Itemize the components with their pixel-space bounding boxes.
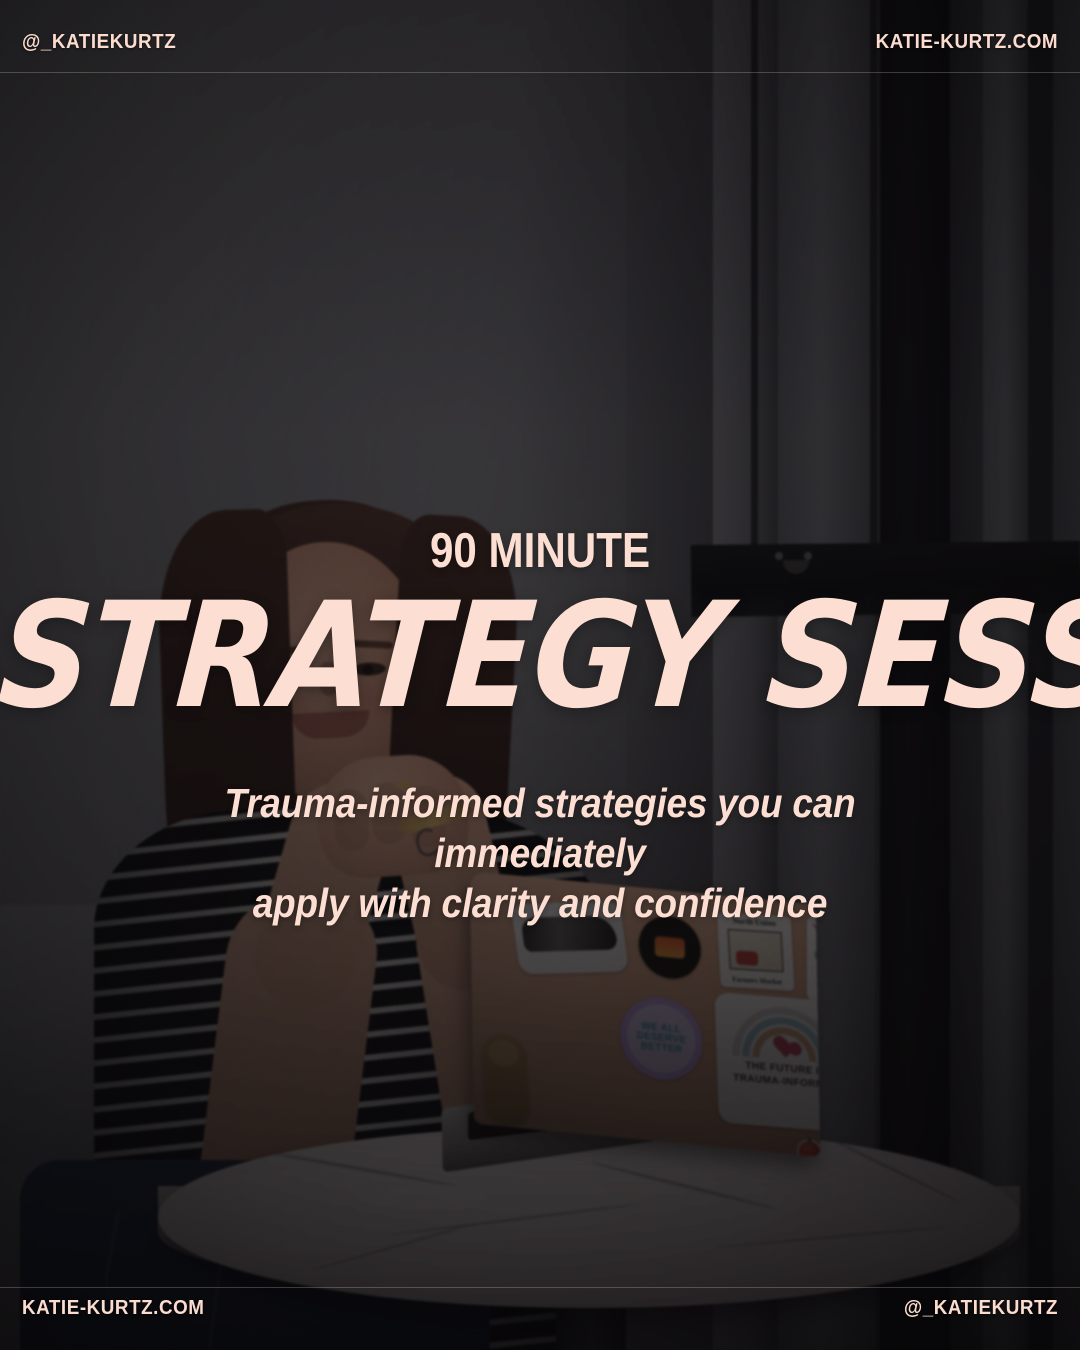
- footer-website: KATIE-KURTZ.COM: [22, 1297, 205, 1320]
- instagram-promo-poster: North Union Farmers Market Y'ALL MEANS A…: [0, 0, 1080, 1350]
- subtitle-text: Trauma-informed strategies you can immed…: [153, 778, 927, 928]
- header-divider: [0, 72, 1080, 73]
- footer-bar: KATIE-KURTZ.COM @_KATIEKURTZ: [0, 1294, 1080, 1322]
- header-bar: @_KATIEKURTZ KATIE-KURTZ.COM: [0, 28, 1080, 56]
- subtitle-line-1: Trauma-informed strategies you can immed…: [225, 780, 856, 876]
- header-website: KATIE-KURTZ.COM: [875, 31, 1058, 54]
- headline-text: STRATEGY SESSION: [0, 587, 1080, 726]
- footer-divider: [0, 1287, 1080, 1288]
- eyebrow-text: 90 MINUTE: [76, 527, 1005, 576]
- text-layer: @_KATIEKURTZ KATIE-KURTZ.COM 90 MINUTE S…: [0, 0, 1080, 1350]
- subtitle-line-2: apply with clarity and confidence: [253, 880, 827, 926]
- header-handle: @_KATIEKURTZ: [22, 31, 176, 54]
- footer-handle: @_KATIEKURTZ: [904, 1297, 1058, 1320]
